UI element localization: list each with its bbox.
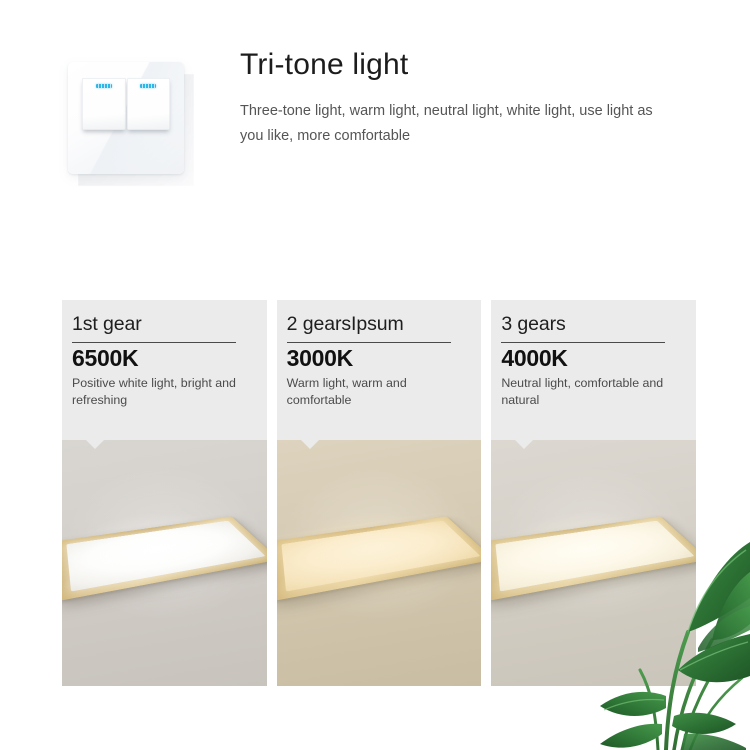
card-notch-1 bbox=[86, 440, 104, 449]
switch-led-indicator-left bbox=[96, 84, 112, 88]
gear-description-3: Neutral light, comfortable and natural bbox=[501, 375, 684, 408]
card-notch-2 bbox=[301, 440, 319, 449]
gear-label-1: 1st gear bbox=[72, 314, 255, 335]
gear-label-3: 3 gears bbox=[501, 314, 684, 335]
gear-divider-1 bbox=[72, 342, 236, 343]
kelvin-value-1: 6500K bbox=[72, 346, 255, 372]
gear-photo-3 bbox=[491, 440, 696, 686]
gear-card-2: 2 gearsIpsum 3000K Warm light, warm and … bbox=[277, 300, 482, 440]
page-subtitle: Three-tone light, warm light, neutral li… bbox=[240, 99, 680, 149]
gear-photo-1 bbox=[62, 440, 267, 686]
gear-card-1: 1st gear 6500K Positive white light, bri… bbox=[62, 300, 267, 440]
gear-description-2: Warm light, warm and comfortable bbox=[287, 375, 470, 408]
gear-panels: 1st gear 6500K Positive white light, bri… bbox=[62, 300, 696, 686]
gear-panel-2: 2 gearsIpsum 3000K Warm light, warm and … bbox=[277, 300, 482, 686]
header-text-block: Tri-tone light Three-tone light, warm li… bbox=[240, 48, 710, 149]
gear-description-1: Positive white light, bright and refresh… bbox=[72, 375, 255, 408]
gear-divider-2 bbox=[287, 342, 451, 343]
kelvin-value-2: 3000K bbox=[287, 346, 470, 372]
gear-label-2: 2 gearsIpsum bbox=[287, 314, 470, 335]
card-notch-3 bbox=[515, 440, 533, 449]
wall-switch-two-gang-icon bbox=[60, 52, 210, 192]
switch-led-indicator-right bbox=[140, 84, 156, 88]
switch-rocker-left bbox=[82, 78, 126, 130]
gear-photo-2 bbox=[277, 440, 482, 686]
gear-panel-3: 3 gears 4000K Neutral light, comfortable… bbox=[491, 300, 696, 686]
switch-rockers bbox=[82, 78, 170, 130]
gear-panel-1: 1st gear 6500K Positive white light, bri… bbox=[62, 300, 267, 686]
header-section: Tri-tone light Three-tone light, warm li… bbox=[0, 0, 750, 215]
switch-rocker-right bbox=[127, 78, 171, 130]
gear-card-3: 3 gears 4000K Neutral light, comfortable… bbox=[491, 300, 696, 440]
kelvin-value-3: 4000K bbox=[501, 346, 684, 372]
page-title: Tri-tone light bbox=[240, 48, 710, 81]
gear-divider-3 bbox=[501, 342, 665, 343]
